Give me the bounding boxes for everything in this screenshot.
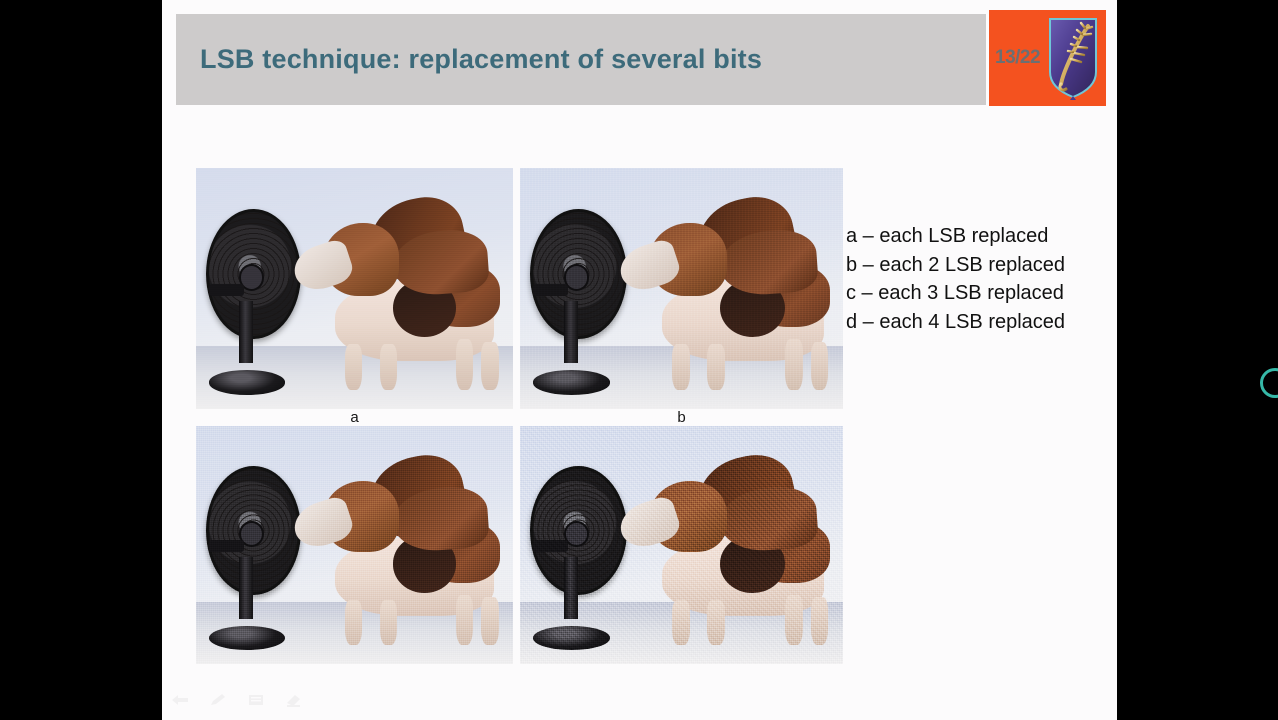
pen-icon[interactable] bbox=[208, 692, 228, 708]
highlighter-icon[interactable] bbox=[284, 692, 304, 708]
legend-item-d: d – each 4 LSB replaced bbox=[846, 308, 1106, 337]
legend-item-b: b – each 2 LSB replaced bbox=[846, 251, 1106, 280]
image-caption-a: a bbox=[196, 409, 513, 426]
screen: LSB technique: replacement of several bi… bbox=[0, 0, 1278, 720]
page-counter: 13/22 bbox=[995, 47, 1040, 69]
video-progress-ring[interactable] bbox=[1258, 364, 1278, 402]
presentation-toolbar[interactable] bbox=[170, 692, 304, 708]
legend-item-a: a – each LSB replaced bbox=[846, 222, 1106, 251]
slide-header-bar: LSB technique: replacement of several bi… bbox=[176, 14, 986, 105]
legend-item-c: c – each 3 LSB replaced bbox=[846, 279, 1106, 308]
pointer-icon[interactable] bbox=[170, 692, 190, 708]
legend-list: a – each LSB replaced b – each 2 LSB rep… bbox=[846, 222, 1106, 336]
slide-canvas: LSB technique: replacement of several bi… bbox=[162, 0, 1117, 720]
notes-icon[interactable] bbox=[246, 692, 266, 708]
logo-badge: 13/22 bbox=[989, 10, 1106, 106]
image-grid: a b c bbox=[196, 168, 880, 664]
page-title: LSB technique: replacement of several bi… bbox=[176, 44, 762, 75]
stego-image-d: d bbox=[520, 426, 843, 664]
stego-image-a bbox=[196, 168, 513, 409]
shield-crest-icon bbox=[1047, 16, 1099, 100]
stego-image-b bbox=[520, 168, 843, 409]
image-caption-b: b bbox=[520, 409, 843, 426]
stego-image-c: c bbox=[196, 426, 513, 664]
